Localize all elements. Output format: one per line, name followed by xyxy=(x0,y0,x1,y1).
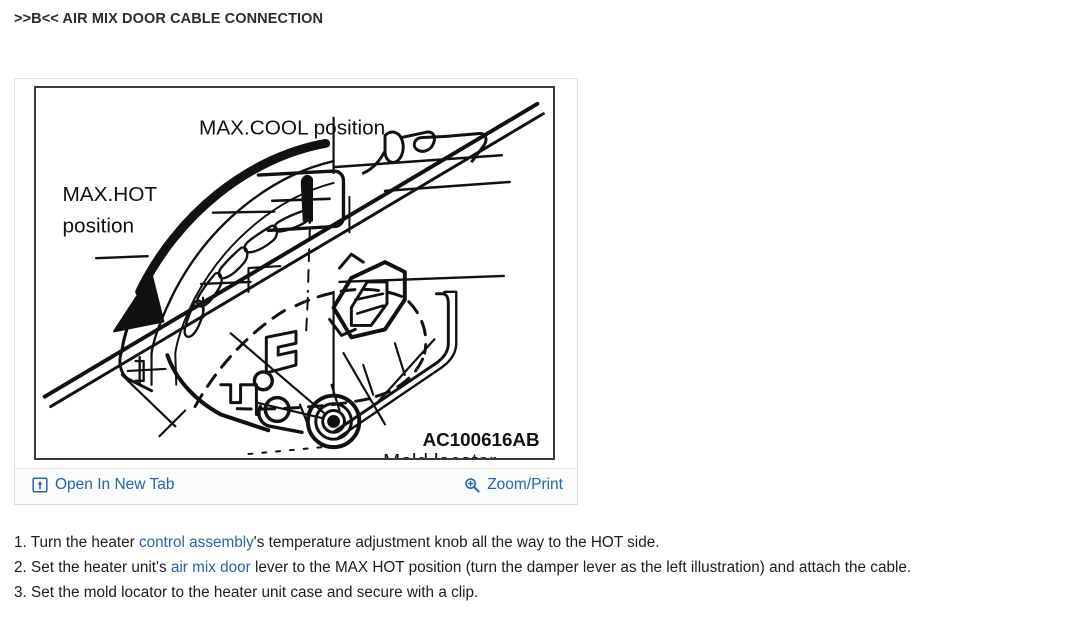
label-max-cool-position: MAX.COOL position xyxy=(199,116,385,139)
open-in-new-tab-icon xyxy=(32,477,48,493)
open-in-new-tab-label: Open In New Tab xyxy=(55,476,174,494)
zoom-print-label: Zoom/Print xyxy=(487,476,563,494)
page-title: >>B<< AIR MIX DOOR CABLE CONNECTION xyxy=(14,11,323,27)
label-part-code: AC100616AB xyxy=(423,429,540,450)
list-item: 2. Set the heater unit's air mix door le… xyxy=(14,555,1074,580)
step-number: 2. xyxy=(14,559,27,576)
figure-actions-bar: Open In New Tab Zoom/Print xyxy=(15,468,577,504)
procedure-steps-list: 1. Turn the heater control assembly's te… xyxy=(14,530,1074,605)
link-control-assembly[interactable]: control assembly xyxy=(139,534,254,551)
list-item: 1. Turn the heater control assembly's te… xyxy=(14,530,1074,555)
label-max-hot-line2: position xyxy=(63,214,135,237)
link-air-mix-door[interactable]: air mix door xyxy=(171,559,251,576)
diagram-frame: MAX.COOL position MAX.HOT position Air m… xyxy=(34,86,555,460)
label-mold-locator: Mold locator xyxy=(383,450,496,458)
open-in-new-tab-link[interactable]: Open In New Tab xyxy=(32,476,174,494)
air-mix-door-cable-illustration: MAX.COOL position MAX.HOT position Air m… xyxy=(36,88,553,458)
label-max-hot-line1: MAX.HOT xyxy=(63,183,158,206)
step-text-before: Turn the heater xyxy=(27,534,139,551)
figure-container: MAX.COOL position MAX.HOT position Air m… xyxy=(14,78,578,505)
zoom-print-link[interactable]: Zoom/Print xyxy=(464,476,563,494)
step-number: 1. xyxy=(14,534,27,551)
step-text-after: 's temperature adjustment knob all the w… xyxy=(254,534,660,551)
step-text-after: lever to the MAX HOT position (turn the … xyxy=(251,559,911,576)
list-item: 3. Set the mold locator to the heater un… xyxy=(14,580,1074,605)
step-text-before: Set the heater unit's xyxy=(27,559,171,576)
step-text-before: Set the mold locator to the heater unit … xyxy=(27,584,479,601)
step-number: 3. xyxy=(14,584,27,601)
magnifier-plus-icon xyxy=(464,477,480,493)
